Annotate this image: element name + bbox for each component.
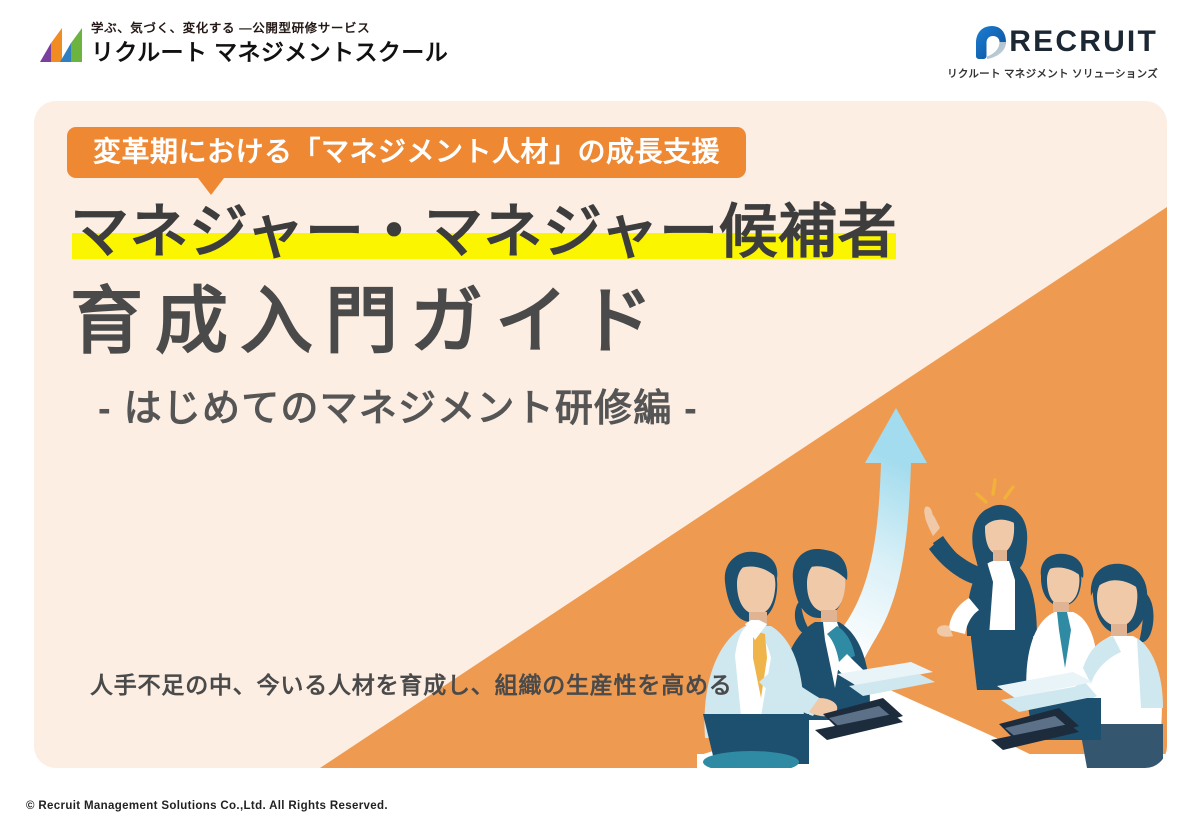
title-block: マネジャー・マネジャー候補者 育成入門ガイド - はじめてのマネジメント研修編 … bbox=[70, 199, 970, 431]
eyebrow-banner-text: 変革期における「マネジメント人材」の成長支援 bbox=[93, 136, 720, 167]
four-triangles-logo-icon bbox=[40, 28, 82, 62]
eyebrow-banner: 変革期における「マネジメント人材」の成長支援 bbox=[67, 127, 746, 178]
recruit-management-school-brand[interactable]: 学ぶ、気づく、変化する ―公開型研修サービス リクルート マネジメントスクール bbox=[40, 22, 448, 64]
idea-spark-icon bbox=[977, 480, 1013, 502]
hero-card: 変革期における「マネジメント人材」の成長支援 マネジャー・マネジャー候補者 育成… bbox=[34, 101, 1167, 768]
banner-tail-triangle bbox=[198, 178, 224, 195]
recruit-management-solutions-brand[interactable]: RECRUIT リクルート マネジメント ソリューションズ bbox=[947, 24, 1158, 81]
page-title-line1: マネジャー・マネジャー候補者 bbox=[70, 199, 897, 265]
page-title-line2: 育成入門ガイド bbox=[70, 281, 970, 363]
card-tagline: 人手不足の中、今いる人材を育成し、組織の生産性を高める bbox=[90, 666, 733, 700]
presenter-person bbox=[924, 480, 1037, 690]
title-line1-wrapper: マネジャー・マネジャー候補者 bbox=[70, 199, 897, 265]
brand-name: リクルート マネジメントスクール bbox=[91, 40, 448, 64]
recruit-lockup: RECRUIT bbox=[947, 24, 1158, 60]
recruit-wordmark: RECRUIT bbox=[1009, 27, 1158, 57]
recruit-subtitle: リクルート マネジメント ソリューションズ bbox=[947, 66, 1158, 81]
eyebrow-banner-wrapper: 変革期における「マネジメント人材」の成長支援 bbox=[67, 127, 746, 178]
brand-tagline: 学ぶ、気づく、変化する ―公開型研修サービス bbox=[91, 23, 448, 36]
footer-copyright: © Recruit Management Solutions Co.,Ltd. … bbox=[26, 800, 388, 812]
page-subtitle: - はじめてのマネジメント研修編 - bbox=[98, 389, 970, 431]
page-header: 学ぶ、気づく、変化する ―公開型研修サービス リクルート マネジメントスクール bbox=[0, 0, 1200, 92]
recruit-r-mark-icon bbox=[974, 24, 1008, 60]
